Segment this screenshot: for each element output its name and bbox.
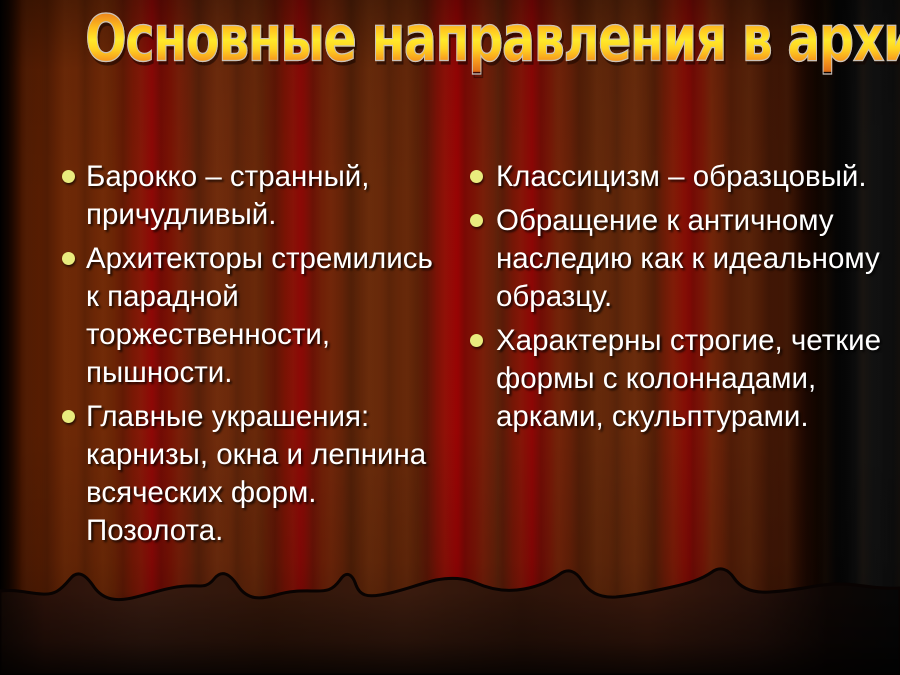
column-classicism: Классицизм – образцовый. Обращение к ант…: [452, 158, 900, 442]
column-baroque: Барокко – странный, причудливый. Архитек…: [0, 158, 452, 556]
list-item: Характерны строгие, четкие формы с колон…: [464, 322, 890, 436]
bullet-list-right: Классицизм – образцовый. Обращение к ант…: [464, 158, 890, 436]
list-item: Главные украшения: карнизы, окна и лепни…: [56, 398, 446, 550]
presentation-slide: Основные направления в архитектуре Барок…: [0, 0, 900, 675]
list-item: Архитекторы стремились к парадной торжес…: [56, 240, 446, 392]
slide-content: Барокко – странный, причудливый. Архитек…: [0, 158, 900, 608]
list-item: Барокко – странный, причудливый.: [56, 158, 446, 234]
list-item: Обращение к античному наследию как к иде…: [464, 202, 890, 316]
list-item: Классицизм – образцовый.: [464, 158, 890, 196]
bullet-list-left: Барокко – странный, причудливый. Архитек…: [56, 158, 446, 550]
